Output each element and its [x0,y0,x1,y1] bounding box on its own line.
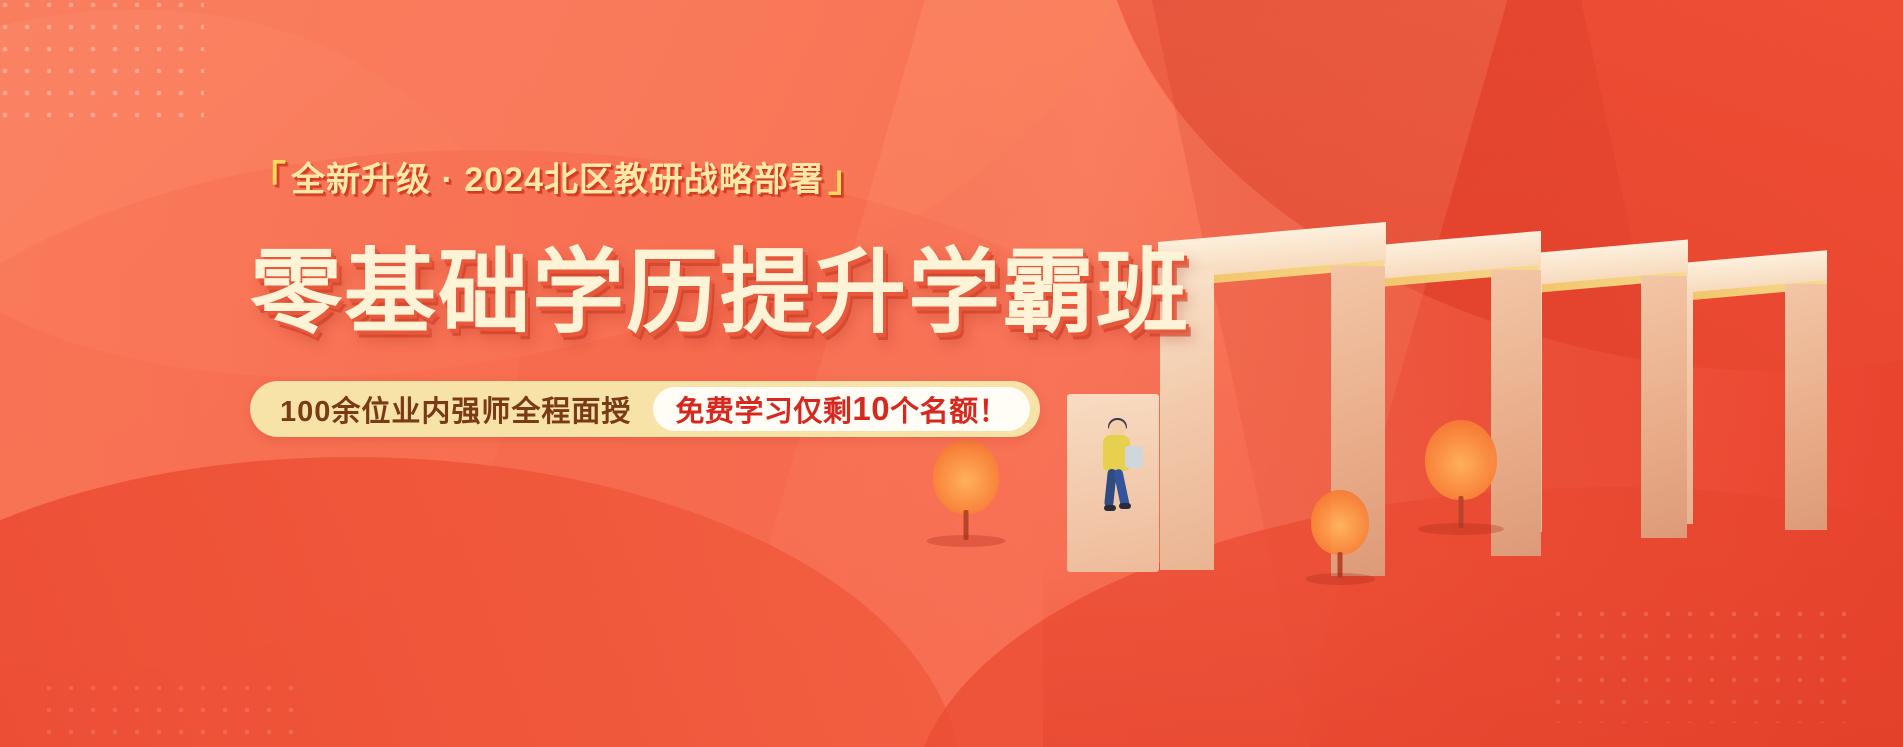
halftone-dots-top-left [0,0,204,124]
promo-pill[interactable]: 100余位业内强师全程面授 免费学习仅剩 10 个名额！ [250,381,1040,437]
banner-subtitle: 「 全新升级 · 2024北区教研战略部署 」 [250,150,1030,202]
tree-center [1311,490,1369,578]
halftone-dots-bottom-left [38,677,298,747]
banner-headline: 零基础学历提升学霸班 [250,218,1030,351]
pill-right-prefix: 免费学习仅剩 [675,388,852,430]
close-bracket-icon: 」 [828,150,865,202]
pill-right-suffix: 个名额！ [890,388,1008,430]
illustration-group [1043,0,1903,747]
remaining-seats-count: 10 [852,390,890,428]
tree-left [933,440,999,540]
banner-text-block: 「 全新升级 · 2024北区教研战略部署 」 零基础学历提升学霸班 100余位… [250,150,1030,437]
background-wave-bottom-left [0,457,960,747]
pill-right-badge[interactable]: 免费学习仅剩 10 个名额！ [653,387,1030,431]
tree-right [1425,420,1497,528]
student-walking-figure [1095,420,1149,515]
open-bracket-icon: 「 [250,150,287,202]
pill-left-text: 100余位业内强师全程面授 [250,388,653,430]
subtitle-text: 全新升级 · 2024北区教研战略部署 [291,152,824,201]
promo-banner: 「 全新升级 · 2024北区教研战略部署 」 零基础学历提升学霸班 100余位… [0,0,1903,747]
